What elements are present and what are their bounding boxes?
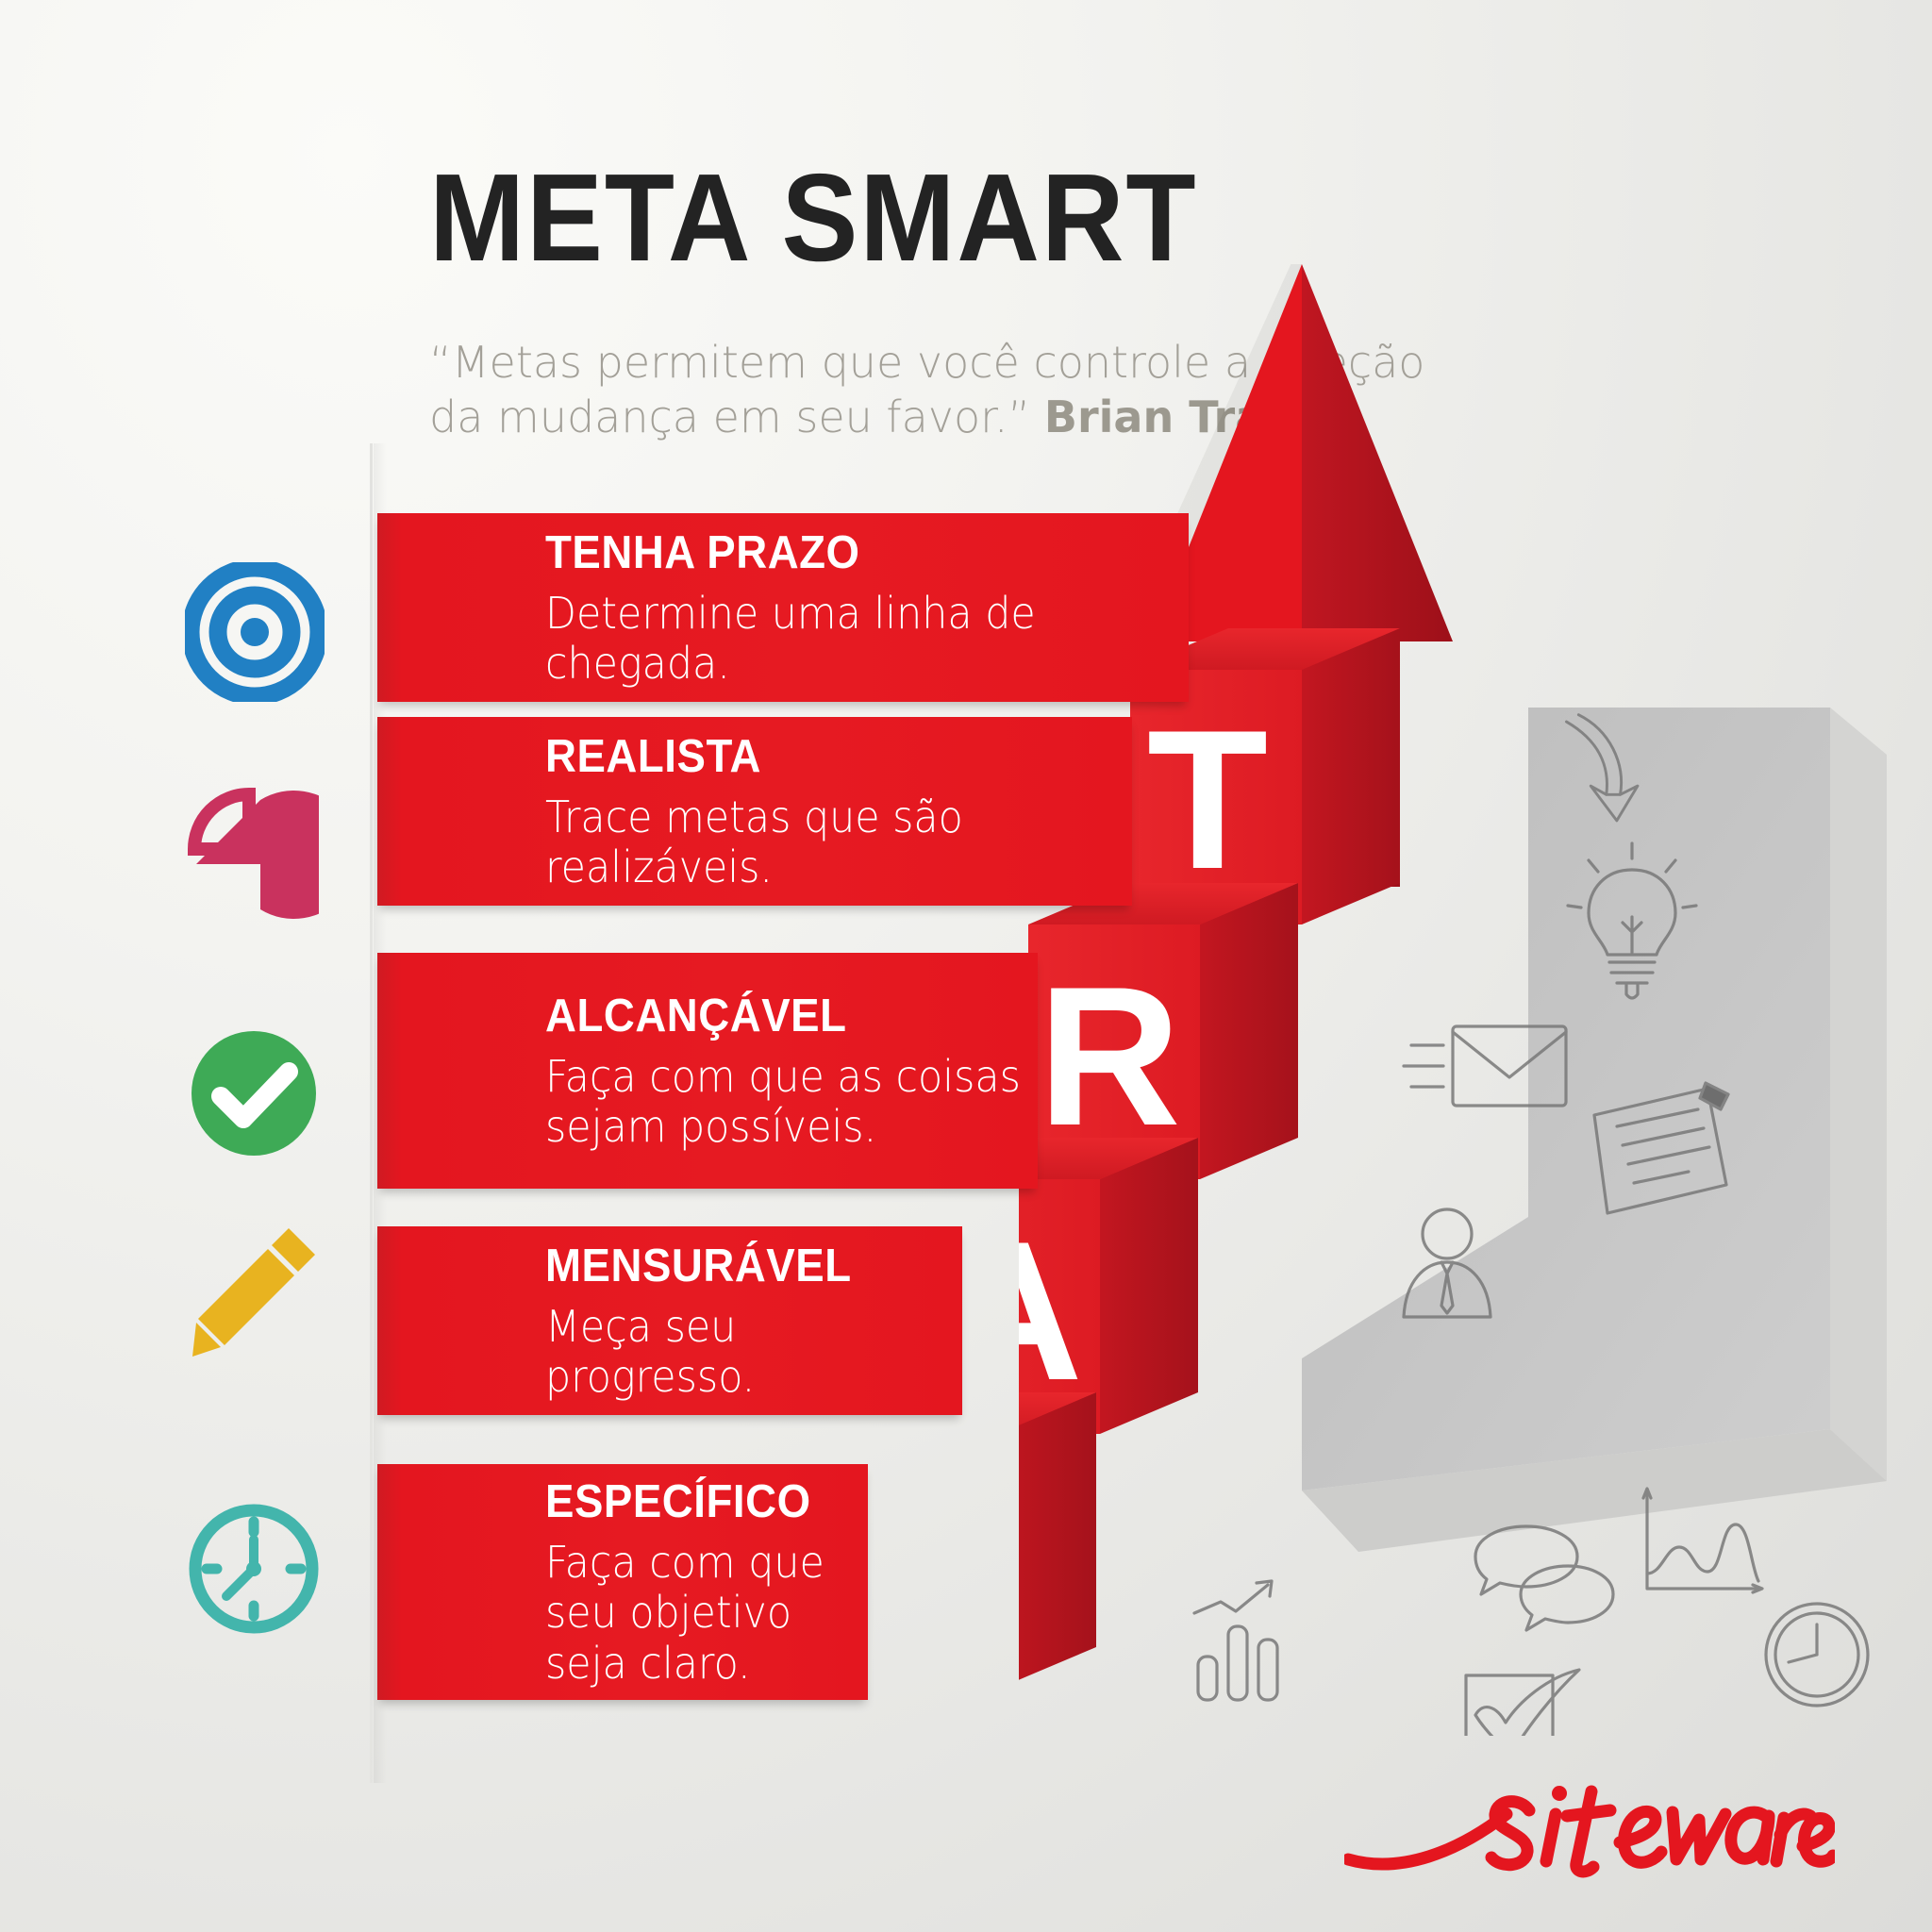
band-mensuravel[interactable]: MENSURÁVEL Meça seu progresso. [377, 1226, 962, 1415]
band-realista[interactable]: REALISTA Trace metas que são realizáveis… [377, 717, 1132, 906]
band-title: REALISTA [545, 730, 1091, 783]
infographic-canvas: META SMART “Metas permitem que você cont… [0, 0, 1932, 1932]
band-title: ALCANÇÁVEL [545, 990, 1037, 1042]
check-circle-icon [185, 1024, 323, 1167]
band-title: ESPECÍFICO [545, 1475, 835, 1528]
icon-column [0, 0, 377, 1932]
pie-chart-icon [187, 787, 319, 924]
band-desc: Faça com que seu objetivo seja claro. [545, 1538, 835, 1689]
band-tenha-prazo[interactable]: TENHA PRAZO Determine uma linha de chega… [377, 513, 1189, 702]
clock-icon [183, 1498, 325, 1644]
band-desc: Trace metas que são realizáveis. [545, 792, 1091, 893]
pencil-icon [191, 1223, 323, 1364]
band-desc: Faça com que as coisas sejam possíveis. [545, 1052, 1037, 1153]
band-desc: Determine uma linha de chegada. [545, 589, 1143, 690]
band-title: TENHA PRAZO [545, 526, 1143, 579]
target-icon [185, 562, 325, 707]
band-desc: Meça seu progresso. [545, 1302, 933, 1403]
siteware-logo[interactable] [1344, 1740, 1835, 1882]
band-alcancavel[interactable]: ALCANÇÁVEL Faça com que as coisas sejam … [377, 953, 1038, 1189]
band-title: MENSURÁVEL [545, 1240, 933, 1292]
logo-i-dot [1552, 1786, 1567, 1801]
band-especifico[interactable]: ESPECÍFICO Faça com que seu objetivo sej… [377, 1464, 868, 1700]
